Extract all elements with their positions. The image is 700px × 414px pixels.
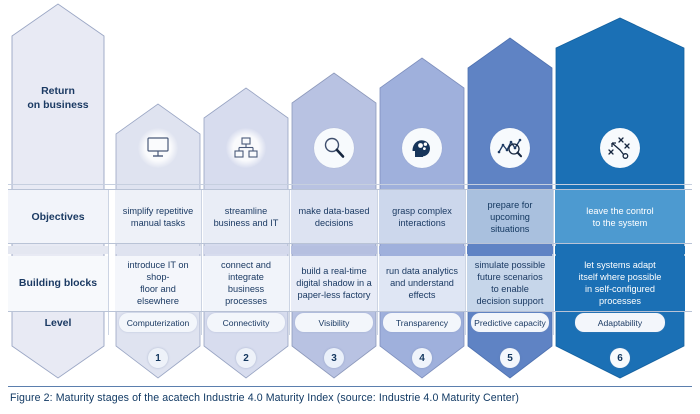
col-sep-0 — [108, 189, 109, 335]
bb-4-line2: and understand effects — [390, 278, 454, 300]
objective-5-line2: upcoming situations — [490, 212, 530, 234]
head-gears-icon — [402, 128, 442, 168]
objective-cell-2: streamline business and IT — [203, 196, 289, 238]
sepbar-1 — [115, 246, 201, 254]
level-pill-4: Transparency — [383, 313, 461, 332]
strategy-playbook-icon — [600, 128, 640, 168]
objective-3-line1: make data-based — [299, 206, 370, 216]
col-sep-5 — [553, 189, 554, 335]
rule-objectives-bottom — [8, 243, 692, 244]
objective-cell-3: make data-based decisions — [291, 196, 377, 238]
bb-2-line1: connect and integrate — [221, 260, 271, 282]
stage-number-6: 6 — [610, 348, 630, 368]
stage-number-2: 2 — [236, 348, 256, 368]
bb-6-line2: itself where possible — [579, 272, 662, 282]
rule-objectives-top — [8, 189, 692, 190]
axis-label-line1: Return — [8, 84, 108, 98]
sepbar-2 — [203, 246, 289, 254]
sepbar-6 — [555, 246, 685, 254]
objective-cell-4: grasp complex interactions — [379, 196, 465, 238]
stage-number-5: 5 — [500, 348, 520, 368]
bb-3-line1: build a real-time — [301, 266, 366, 276]
objective-cell-1: simplify repetitive manual tasks — [115, 196, 201, 238]
col-sep-3 — [377, 189, 378, 335]
bb-6-line4: processes — [599, 296, 641, 306]
building-block-cell-4: run data analytics and understand effect… — [379, 258, 465, 308]
objective-4-line1: grasp complex — [392, 206, 452, 216]
col-sep-4 — [465, 189, 466, 335]
level-pill-2: Connectivity — [207, 313, 285, 332]
bb-4-line1: run data analytics — [386, 266, 458, 276]
bb-1-line2: floor and elsewhere — [137, 284, 179, 306]
col-sep-1 — [201, 189, 202, 335]
objective-2-line1: streamline — [225, 206, 267, 216]
objective-2-line2: business and IT — [214, 218, 279, 228]
bb-5-line1: simulate possible — [475, 260, 545, 270]
magnifier-icon — [314, 128, 354, 168]
forecast-chart-icon — [490, 128, 530, 168]
bb-3-line2: digital shadow in a — [296, 278, 372, 288]
monitor-icon — [138, 128, 178, 168]
building-block-cell-3: build a real-time digital shadow in a pa… — [291, 258, 377, 308]
row-label-building-blocks: Building blocks — [8, 276, 108, 290]
building-block-cell-5: simulate possible future scenarios to en… — [467, 258, 553, 308]
level-pill-5: Predictive capacity — [471, 313, 549, 332]
figure-maturity-stages: Return on business Objectives Building b… — [0, 0, 700, 414]
bb-5-line2: future scenarios — [477, 272, 542, 282]
figure-caption: Figure 2: Maturity stages of the acatech… — [10, 392, 696, 404]
axis-label-return-on-business: Return on business — [8, 84, 108, 112]
level-pill-6: Adaptability — [575, 313, 665, 332]
objective-6-line2: to the system — [593, 218, 648, 228]
bb-6-line3: in self-configured — [585, 284, 655, 294]
row-label-objectives: Objectives — [8, 210, 108, 224]
bb-6-line1: let systems adapt — [584, 260, 656, 270]
objective-cell-6: leave the control to the system — [555, 196, 685, 238]
level-pill-3: Visibility — [295, 313, 373, 332]
sepbar-3 — [291, 246, 377, 254]
objective-1-line2: manual tasks — [131, 218, 185, 228]
objective-1-line1: simplify repetitive — [123, 206, 193, 216]
sepbar-label — [8, 246, 108, 254]
building-block-cell-1: introduce IT on shop- floor and elsewher… — [115, 258, 201, 308]
rule-level-top — [8, 311, 692, 312]
bb-5-line3: to enable — [491, 284, 529, 294]
bb-2-line2: business processes — [225, 284, 267, 306]
network-icon — [226, 128, 266, 168]
stage-number-1: 1 — [148, 348, 168, 368]
objective-cell-5: prepare for upcoming situations — [467, 196, 553, 238]
stage-number-4: 4 — [412, 348, 432, 368]
building-block-cell-2: connect and integrate business processes — [203, 258, 289, 308]
sepbar-4 — [379, 246, 465, 254]
building-block-cell-6: let systems adapt itself where possible … — [555, 258, 685, 308]
objective-4-line2: interactions — [399, 218, 446, 228]
bb-1-line1: introduce IT on shop- — [127, 260, 188, 282]
caption-rule — [8, 386, 692, 387]
stage-number-3: 3 — [324, 348, 344, 368]
row-label-level: Level — [8, 316, 108, 330]
axis-label-line2: on business — [8, 98, 108, 112]
sepbar-5 — [467, 246, 553, 254]
bb-3-line3: paper-less factory — [297, 290, 370, 300]
objective-3-line2: decisions — [315, 218, 353, 228]
bb-5-line4: decision support — [477, 296, 544, 306]
objective-6-line1: leave the control — [586, 206, 653, 216]
level-pill-1: Computerization — [119, 313, 197, 332]
baseline-rule — [8, 184, 692, 185]
objective-5-line1: prepare for — [488, 200, 533, 210]
col-sep-2 — [289, 189, 290, 335]
